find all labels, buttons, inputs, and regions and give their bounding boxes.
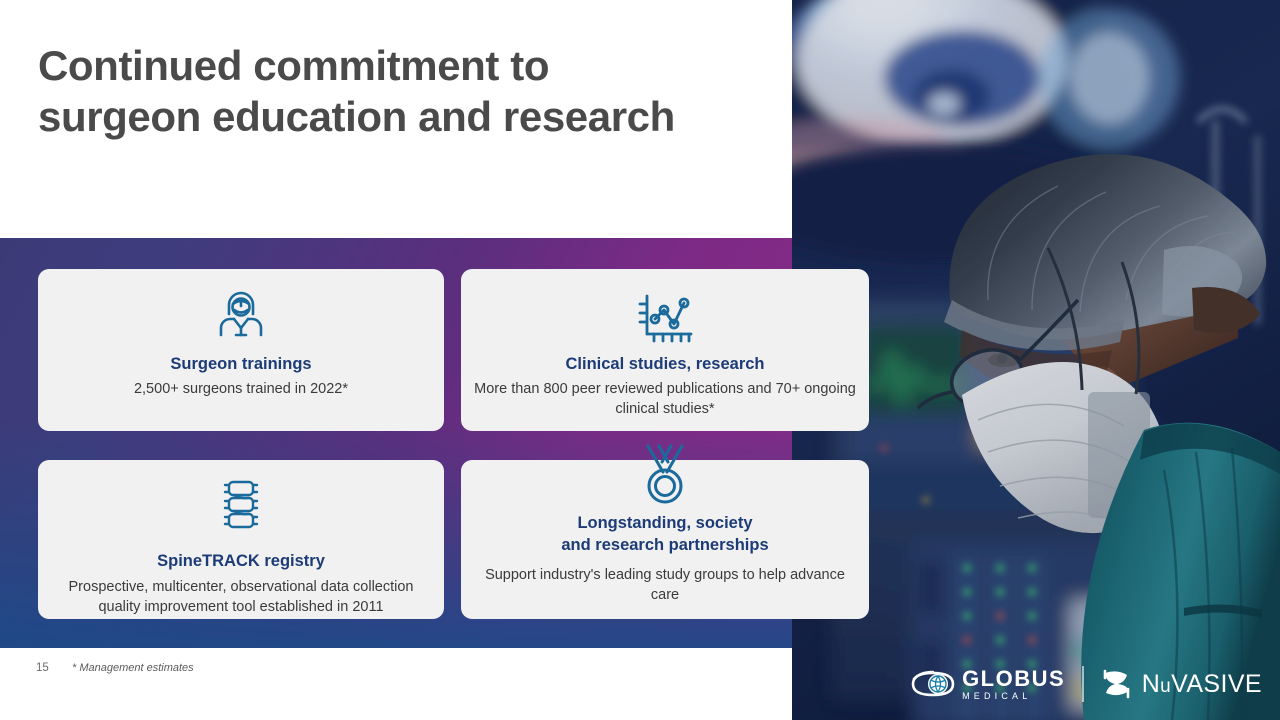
footnote: * Management estimates	[72, 662, 194, 674]
globus-name: GLOBUS	[962, 668, 1065, 690]
card-spinetrack-registry[interactable]: SpineTRACK registry Prospective, multice…	[38, 460, 444, 619]
card-surgeon-trainings[interactable]: Surgeon trainings 2,500+ surgeons traine…	[38, 269, 444, 431]
card-longstanding-partnerships[interactable]: Longstanding, society and research partn…	[461, 460, 869, 619]
globus-wordmark: GLOBUS MEDICAL	[962, 668, 1065, 701]
surgeon-icon-glyph	[217, 291, 265, 343]
nuvasive-n: N	[1142, 670, 1160, 698]
nuvasive-logo: NuVASIVE	[1101, 667, 1262, 701]
medal-icon-glyph	[637, 444, 693, 506]
medal-icon	[461, 448, 869, 506]
card-body: Prospective, multicenter, observational …	[38, 577, 444, 617]
logo-divider	[1082, 666, 1084, 702]
footer-bar: 15 * Management estimates	[0, 648, 792, 720]
card-body: Support industry's leading study groups …	[461, 565, 869, 605]
card-heading: SpineTRACK registry	[38, 550, 444, 572]
card-heading: Surgeon trainings	[38, 353, 444, 375]
globus-globe-icon	[911, 667, 955, 701]
title-block: Continued commitment to surgeon educatio…	[38, 40, 738, 142]
line-chart-icon	[461, 285, 869, 343]
globus-tagline: MEDICAL	[962, 692, 1065, 701]
nuvasive-mark-icon	[1101, 667, 1133, 701]
title-line-2: surgeon education and research	[38, 93, 675, 140]
nuvasive-rest: VASIVE	[1171, 670, 1262, 698]
logo-row: GLOBUS MEDICAL NuVASIVE	[911, 666, 1262, 702]
nuvasive-wordmark: NuVASIVE	[1142, 670, 1262, 699]
card-heading: Longstanding, society and research partn…	[461, 512, 869, 556]
nuvasive-u: u	[1160, 676, 1171, 697]
spine-icon-glyph	[219, 478, 263, 534]
card-clinical-studies-research[interactable]: Clinical studies, research More than 800…	[461, 269, 869, 431]
card-heading: Clinical studies, research	[461, 353, 869, 375]
card-heading-line-1: Longstanding, society	[577, 514, 752, 532]
page-number: 15	[36, 662, 49, 674]
card-body: 2,500+ surgeons trained in 2022*	[38, 379, 444, 399]
card-heading-line-2: and research partnerships	[561, 536, 768, 554]
card-body: More than 800 peer reviewed publications…	[461, 379, 869, 419]
line-chart-icon-glyph	[636, 293, 694, 343]
page-title: Continued commitment to surgeon educatio…	[38, 40, 738, 142]
globus-medical-logo: GLOBUS MEDICAL	[911, 667, 1065, 701]
title-line-1: Continued commitment to	[38, 42, 549, 89]
slide: Continued commitment to surgeon educatio…	[0, 0, 1280, 720]
surgeon-icon	[38, 285, 444, 343]
spine-icon	[38, 476, 444, 534]
